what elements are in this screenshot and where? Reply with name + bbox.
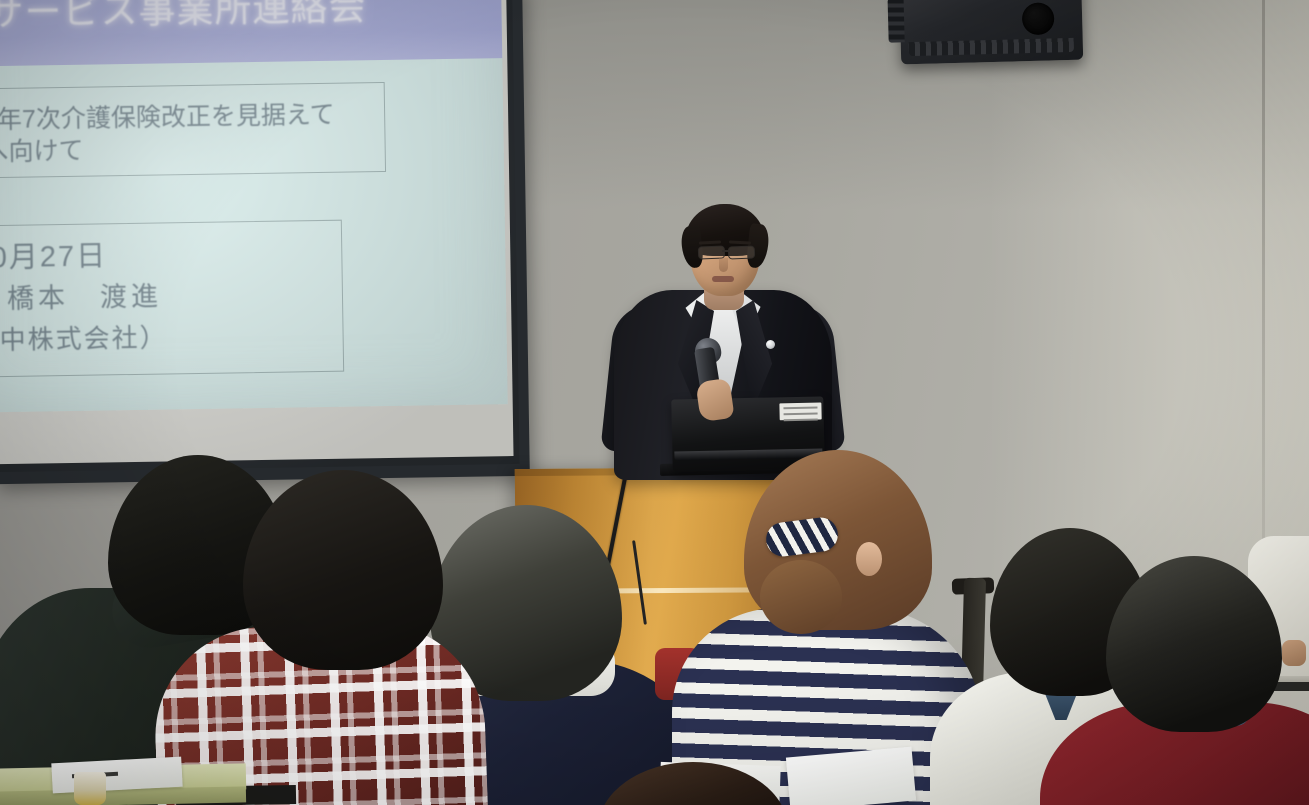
presenter-eyeglass-bridge bbox=[722, 250, 730, 252]
attendee-h-hand bbox=[1282, 640, 1306, 666]
slide-date-text: 5.10月27日 bbox=[0, 232, 107, 277]
speaker-mount-bracket bbox=[888, 0, 905, 43]
laptop-asset-label bbox=[779, 402, 821, 420]
slide-company-text: ン真中株式会社） bbox=[0, 317, 168, 358]
slide-presenter-name-text: 長 橋本 渡進 bbox=[0, 275, 162, 317]
speaker-grille bbox=[909, 38, 1074, 56]
projection-screen-surface: 護サービス事業所連絡会 と30年7次介護保険改正を見据えて 6年へ向けて 5.1… bbox=[0, 0, 514, 464]
attendee-d-hair-bun bbox=[760, 560, 842, 634]
attendee-d-ear bbox=[856, 542, 882, 576]
slide-header-band: 護サービス事業所連絡会 bbox=[0, 0, 502, 67]
presenter-lapel-pin-icon bbox=[766, 340, 775, 349]
drink-cup bbox=[74, 772, 106, 805]
presenter-nose bbox=[719, 258, 728, 272]
photograph-scene: 護サービス事業所連絡会 と30年7次介護保険改正を見据えて 6年へ向けて 5.1… bbox=[0, 0, 1309, 805]
wall-speaker-icon bbox=[899, 0, 1083, 64]
speaker-tweeter-icon bbox=[1022, 2, 1055, 35]
slide-subtitle-line-2: 6年へ向けて bbox=[0, 131, 84, 169]
presenter-eyeglass-right-lens bbox=[728, 246, 755, 260]
slide-title-text: 護サービス事業所連絡会 bbox=[0, 0, 367, 37]
presenter-mouth bbox=[712, 276, 734, 282]
projected-slide: 護サービス事業所連絡会 と30年7次介護保険改正を見据えて 6年へ向けて 5.1… bbox=[0, 0, 508, 413]
presenter-hand bbox=[695, 378, 734, 422]
paper-foreground-right bbox=[786, 747, 916, 805]
projection-screen: 護サービス事業所連絡会 と30年7次介護保険改正を見据えて 6年へ向けて 5.1… bbox=[0, 0, 530, 484]
